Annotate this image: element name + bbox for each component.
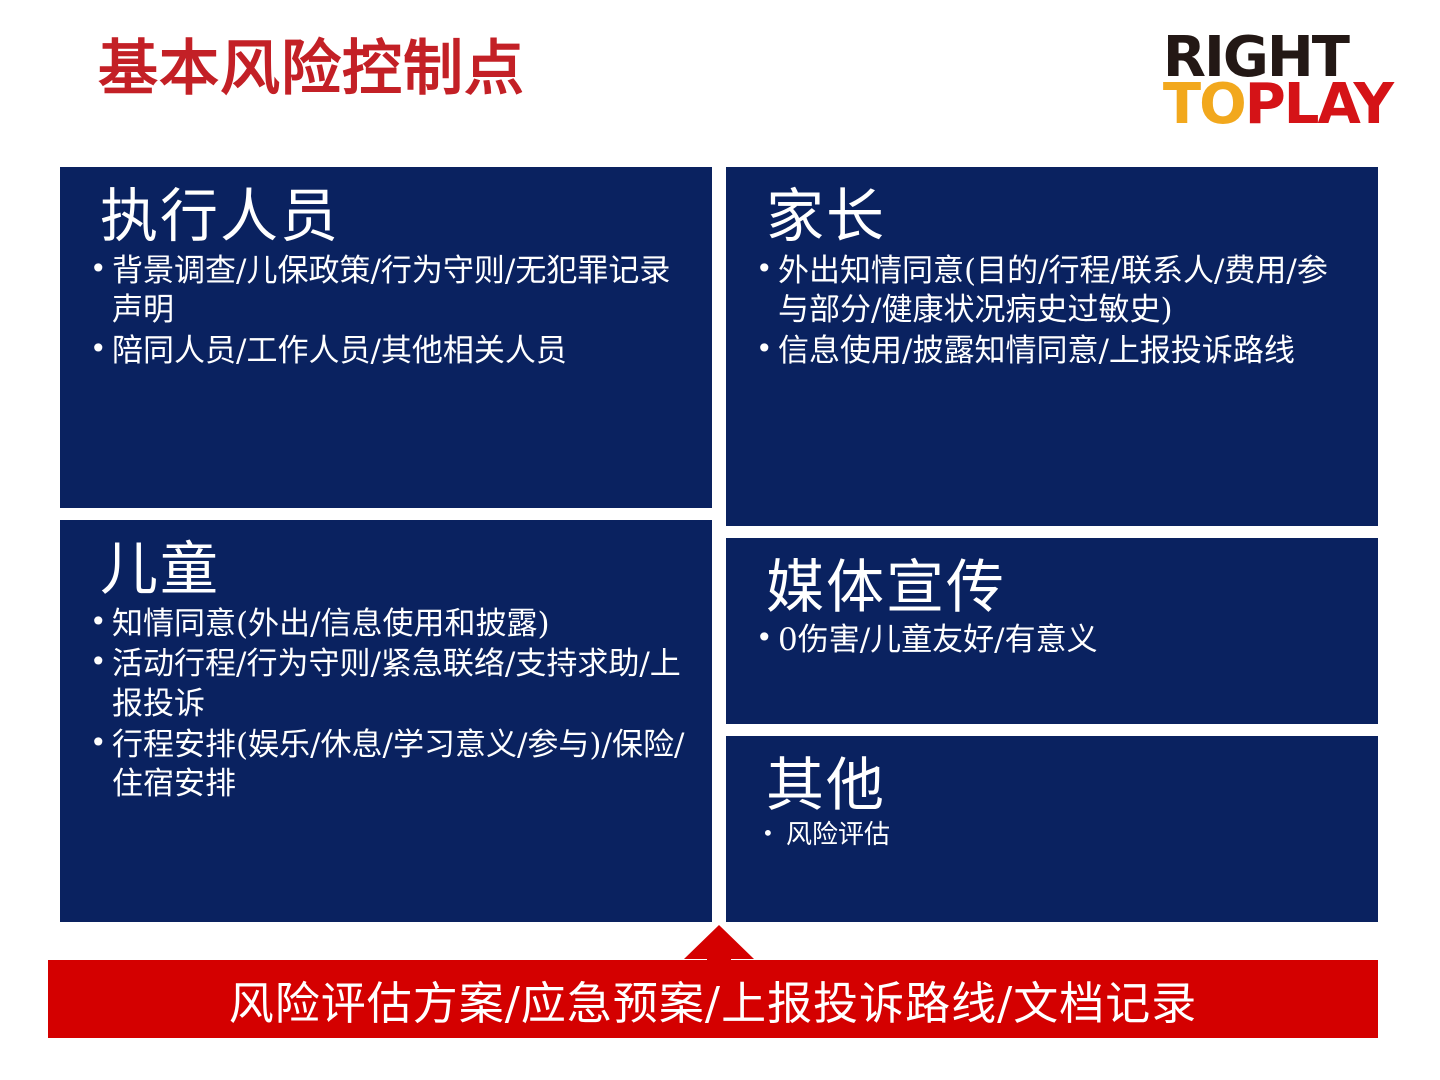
panel-executors: 执行人员 背景调查/儿保政策/行为守则/无犯罪记录声明 陪同人员/工作人员/其他…: [60, 167, 712, 508]
risk-control-grid: 执行人员 背景调查/儿保政策/行为守则/无犯罪记录声明 陪同人员/工作人员/其他…: [60, 167, 1378, 922]
right-to-play-logo: RIGHT TOPLAY: [1163, 34, 1392, 128]
list-item: 外出知情同意(目的/行程/联系人/费用/参与部分/健康状况病史过敏史): [752, 252, 1352, 331]
bottom-banner: 风险评估方案/应急预案/上报投诉路线/文档记录: [48, 960, 1378, 1038]
bottom-banner-text: 风险评估方案/应急预案/上报投诉路线/文档记录: [229, 967, 1198, 1032]
panel-executors-heading: 执行人员: [100, 183, 686, 250]
arrow-head: [684, 925, 754, 959]
list-item: 信息使用/披露知情同意/上报投诉路线: [752, 332, 1352, 372]
list-item: 活动行程/行为守则/紧急联络/支持求助/上报投诉: [86, 645, 686, 724]
panel-other-bullets: 风险评估: [752, 819, 1352, 852]
panel-media-heading: 媒体宣传: [766, 554, 1352, 621]
panel-parents-bullets: 外出知情同意(目的/行程/联系人/费用/参与部分/健康状况病史过敏史) 信息使用…: [752, 252, 1352, 372]
list-item: 0伤害/儿童友好/有意义: [752, 621, 1352, 661]
right-column: 家长 外出知情同意(目的/行程/联系人/费用/参与部分/健康状况病史过敏史) 信…: [726, 167, 1378, 922]
panel-parents-heading: 家长: [766, 183, 1352, 250]
panel-parents: 家长 外出知情同意(目的/行程/联系人/费用/参与部分/健康状况病史过敏史) 信…: [726, 167, 1378, 526]
panel-media-bullets: 0伤害/儿童友好/有意义: [752, 621, 1352, 661]
logo-line-two: TOPLAY: [1163, 81, 1392, 128]
panel-media: 媒体宣传 0伤害/儿童友好/有意义: [726, 538, 1378, 724]
page-title: 基本风险控制点: [98, 38, 525, 101]
list-item: 背景调查/儿保政策/行为守则/无犯罪记录声明: [86, 252, 686, 331]
logo-text-to: TO: [1163, 72, 1245, 137]
list-item: 陪同人员/工作人员/其他相关人员: [86, 332, 686, 372]
panel-children-heading: 儿童: [100, 536, 686, 603]
panel-other-heading: 其他: [766, 752, 1352, 819]
panel-other: 其他 风险评估: [726, 736, 1378, 922]
list-item: 知情同意(外出/信息使用和披露): [86, 605, 686, 645]
panel-executors-bullets: 背景调查/儿保政策/行为守则/无犯罪记录声明 陪同人员/工作人员/其他相关人员: [86, 252, 686, 372]
logo-text-play: PLAY: [1245, 72, 1392, 137]
left-column: 执行人员 背景调查/儿保政策/行为守则/无犯罪记录声明 陪同人员/工作人员/其他…: [60, 167, 712, 922]
list-item: 行程安排(娱乐/休息/学习意义/参与)/保险/住宿安排: [86, 726, 686, 805]
list-item: 风险评估: [752, 819, 1352, 852]
panel-children-bullets: 知情同意(外出/信息使用和披露) 活动行程/行为守则/紧急联络/支持求助/上报投…: [86, 605, 686, 805]
panel-children: 儿童 知情同意(外出/信息使用和披露) 活动行程/行为守则/紧急联络/支持求助/…: [60, 520, 712, 922]
